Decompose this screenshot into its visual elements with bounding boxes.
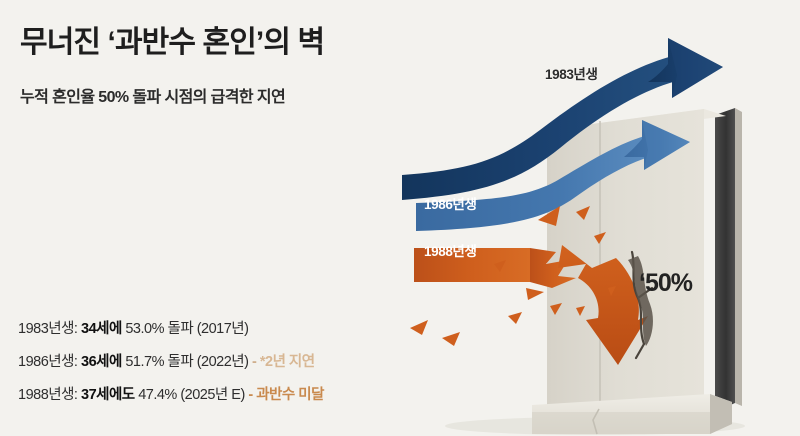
wall-threshold-label: ‘50% <box>639 269 692 298</box>
dataline-cohort: 1983년생: <box>18 321 77 337</box>
wall-side-highlight <box>735 108 742 406</box>
dataline-rate: 53.0% 돌파 (2017년) <box>125 321 248 337</box>
arrow-label-1988: 1988년생 <box>424 240 476 260</box>
dataline-note: *2년 지연 <box>260 354 315 370</box>
arrow-label-1983: 1983년생 <box>545 63 597 83</box>
arrow-label-1986: 1986년생 <box>424 193 476 213</box>
wall-side-edge <box>715 108 735 412</box>
dataline-1986: 1986년생: 36세에 51.7% 돌파 (2022년) - *2년 지연 <box>18 346 458 379</box>
dataline-dash: - <box>252 354 256 370</box>
infographic-canvas: 무너진 ‘과반수 혼인’의 벽 누적 혼인율 50% 돌파 시점의 급격한 지연 <box>0 0 800 436</box>
dataline-rate: 51.7% 돌파 (2022년) <box>125 354 248 370</box>
dataline-note: 과반수 미달 <box>256 387 324 403</box>
dataline-1988: 1988년생: 37세에도 47.4% (2025년 E) - 과반수 미달 <box>18 379 458 412</box>
dataline-cohort: 1988년생: <box>18 387 77 403</box>
dataline-age: 36세에 <box>81 354 122 370</box>
dataline-cohort: 1986년생: <box>18 354 77 370</box>
dataline-age: 37세에도 <box>81 387 135 403</box>
dataline-rate: 47.4% (2025년 E) <box>138 387 245 403</box>
dataline-1983: 1983년생: 34세에 53.0% 돌파 (2017년) <box>18 313 458 346</box>
datalines-list: 1983년생: 34세에 53.0% 돌파 (2017년) 1986년생: 36… <box>18 313 458 412</box>
dataline-age: 34세에 <box>81 321 122 337</box>
dataline-dash: - <box>248 387 252 403</box>
